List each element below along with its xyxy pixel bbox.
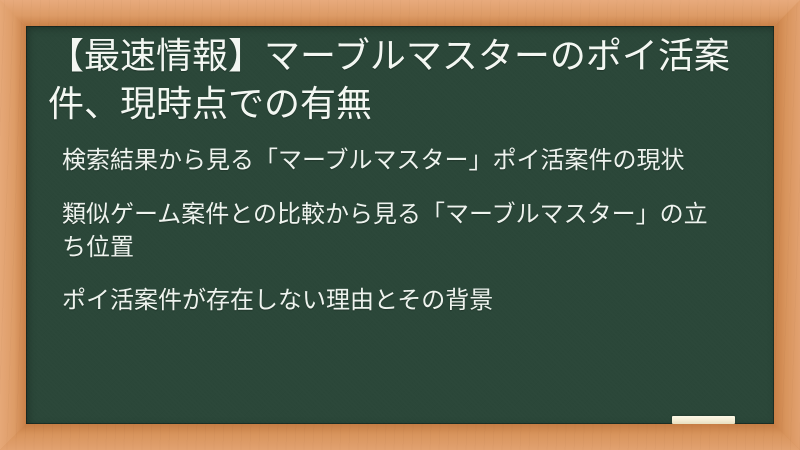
chalk-stick: [672, 416, 735, 424]
list-item: 類似ゲーム案件との比較から見る「マーブルマスター」の立ち位置: [62, 198, 722, 264]
list-item: ポイ活案件が存在しない理由とその背景: [62, 284, 722, 317]
chalkboard-surface: 【最速情報】マーブルマスターのポイ活案件、現時点での有無 検索結果から見る「マー…: [26, 26, 774, 424]
chalkboard-slide: 【最速情報】マーブルマスターのポイ活案件、現時点での有無 検索結果から見る「マー…: [0, 0, 800, 450]
list-item: 検索結果から見る「マーブルマスター」ポイ活案件の現状: [62, 144, 722, 177]
slide-title: 【最速情報】マーブルマスターのポイ活案件、現時点での有無: [48, 32, 752, 128]
slide-bullet-list: 検索結果から見る「マーブルマスター」ポイ活案件の現状 類似ゲーム案件との比較から…: [48, 144, 752, 316]
slide-content: 【最速情報】マーブルマスターのポイ活案件、現時点での有無 検索結果から見る「マー…: [26, 26, 774, 317]
